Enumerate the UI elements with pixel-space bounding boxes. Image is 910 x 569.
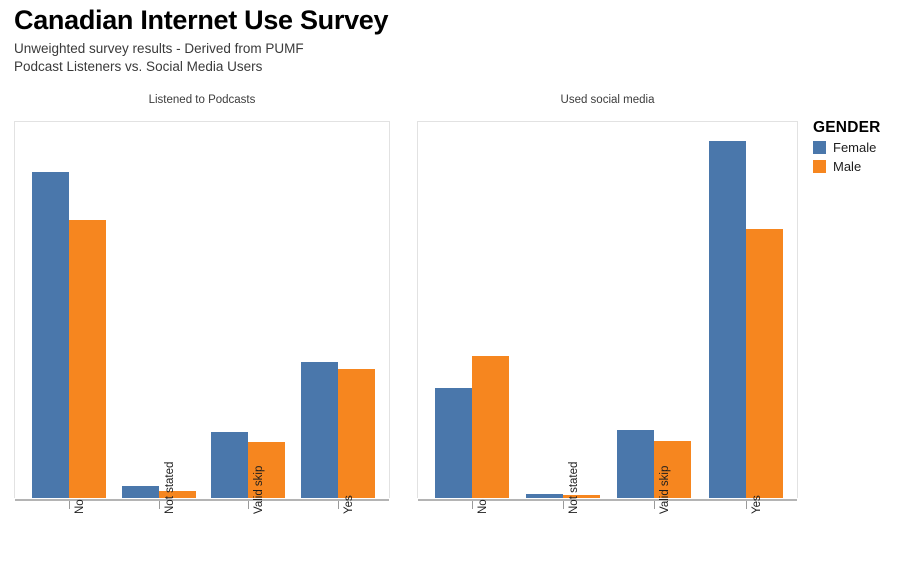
bar-male — [69, 220, 106, 498]
legend-item-male[interactable]: Male — [813, 157, 910, 175]
x-axis-label: Yes — [343, 495, 355, 514]
bar-group — [709, 121, 783, 498]
legend-item-label: Male — [833, 159, 861, 174]
legend-title: GENDER — [813, 118, 910, 137]
bar-male — [338, 369, 375, 498]
plot-area — [418, 122, 797, 498]
x-axis-tick — [159, 501, 160, 509]
bar-group — [211, 121, 285, 498]
bar-group — [526, 121, 600, 498]
x-axis-label: Not stated — [164, 462, 176, 514]
bar-group — [617, 121, 691, 498]
bar-female — [301, 362, 338, 498]
chart-panel-listened-to-podcasts: NoNot statedValid skipYes — [14, 121, 390, 498]
legend-item-female[interactable]: Female — [813, 138, 910, 156]
legend-swatch-icon — [813, 160, 826, 173]
bar-group — [435, 121, 509, 498]
x-axis-label: Valid skip — [253, 466, 265, 514]
bar-female — [617, 430, 654, 498]
x-axis-tick — [69, 501, 70, 509]
facet-title-used-social-media: Used social media — [417, 94, 798, 106]
x-axis-tick — [746, 501, 747, 509]
bar-group — [122, 121, 196, 498]
facet-title-listened-to-podcasts: Listened to Podcasts — [14, 94, 390, 106]
bar-female — [32, 172, 69, 498]
x-axis-line — [418, 499, 797, 501]
chart-header: Canadian Internet Use Survey Unweighted … — [14, 4, 794, 76]
bar-group — [301, 121, 375, 498]
bar-female — [211, 432, 248, 498]
x-axis-label: Not stated — [568, 462, 580, 514]
bar-female — [526, 494, 563, 498]
bar-group — [32, 121, 106, 498]
x-axis-label: Yes — [751, 495, 763, 514]
bar-male — [472, 356, 509, 498]
x-axis-line — [15, 499, 389, 501]
bar-female — [709, 141, 746, 498]
x-axis-tick — [338, 501, 339, 509]
x-axis-tick — [472, 501, 473, 509]
legend-swatch-icon — [813, 141, 826, 154]
bar-female — [122, 486, 159, 498]
x-axis-label: No — [477, 499, 489, 514]
x-axis-tick — [563, 501, 564, 509]
x-axis-tick — [654, 501, 655, 509]
x-axis-label: No — [74, 499, 86, 514]
x-axis-tick — [248, 501, 249, 509]
plot-area — [15, 122, 389, 498]
chart-panel-used-social-media: NoNot statedValid skipYes — [417, 121, 798, 498]
legend-entries: FemaleMale — [813, 138, 910, 175]
bar-male — [746, 229, 783, 498]
legend: GENDER FemaleMale — [813, 118, 910, 175]
chart-subtitle-secondary: Podcast Listeners vs. Social Media Users — [14, 58, 794, 76]
x-axis-label: Valid skip — [659, 466, 671, 514]
page-title: Canadian Internet Use Survey — [14, 4, 794, 36]
legend-item-label: Female — [833, 140, 876, 155]
chart-subtitle-primary: Unweighted survey results - Derived from… — [14, 40, 794, 58]
bar-female — [435, 388, 472, 498]
